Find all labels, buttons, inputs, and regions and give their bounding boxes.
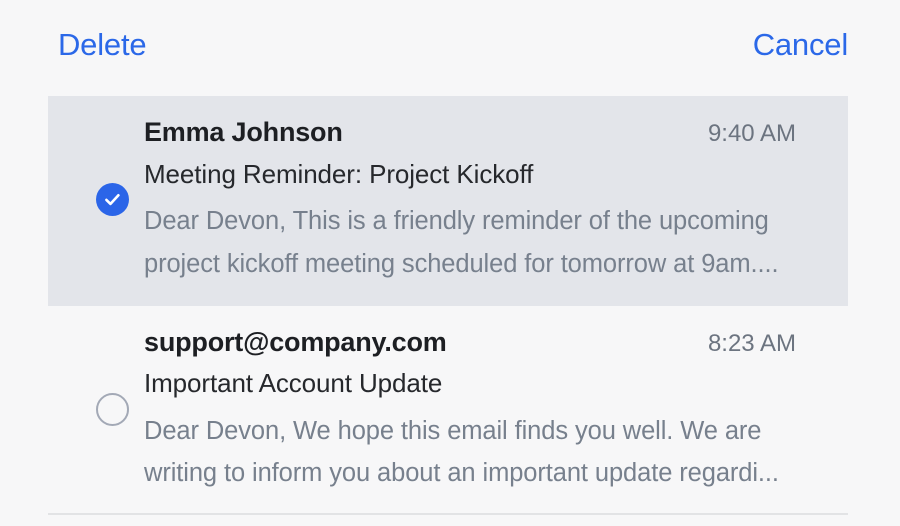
email-timestamp: 8:23 AM: [708, 330, 796, 359]
email-sender: Emma Johnson: [144, 116, 343, 148]
email-content: Emma Johnson 9:40 AM Meeting Reminder: P…: [144, 114, 796, 286]
select-checkbox-cell[interactable]: [48, 324, 144, 496]
selection-toolbar: Delete Cancel: [0, 0, 900, 88]
email-content: support@company.com 8:23 AM Important Ac…: [144, 324, 796, 496]
select-checkbox-unchecked[interactable]: [96, 393, 129, 426]
email-subject: Important Account Update: [144, 368, 796, 399]
email-list-item[interactable]: Emma Johnson 9:40 AM Meeting Reminder: P…: [48, 96, 848, 306]
email-list: Emma Johnson 9:40 AM Meeting Reminder: P…: [0, 96, 900, 515]
email-timestamp: 9:40 AM: [708, 120, 796, 149]
email-preview: Dear Devon, This is a friendly reminder …: [144, 200, 796, 286]
email-header-line: Emma Johnson 9:40 AM: [144, 116, 796, 149]
cancel-button[interactable]: Cancel: [753, 29, 848, 60]
check-icon: [103, 190, 122, 209]
email-subject: Meeting Reminder: Project Kickoff: [144, 159, 796, 190]
email-list-item[interactable]: support@company.com 8:23 AM Important Ac…: [48, 306, 848, 516]
mail-selection-screen: Delete Cancel Emma Johnson 9:40 AM Meeti…: [0, 0, 900, 526]
row-divider: [48, 513, 848, 515]
email-preview: Dear Devon, We hope this email finds you…: [144, 410, 796, 496]
select-checkbox-checked[interactable]: [96, 183, 129, 216]
delete-button[interactable]: Delete: [58, 29, 146, 60]
email-header-line: support@company.com 8:23 AM: [144, 326, 796, 359]
select-checkbox-cell[interactable]: [48, 114, 144, 286]
email-sender: support@company.com: [144, 326, 447, 358]
